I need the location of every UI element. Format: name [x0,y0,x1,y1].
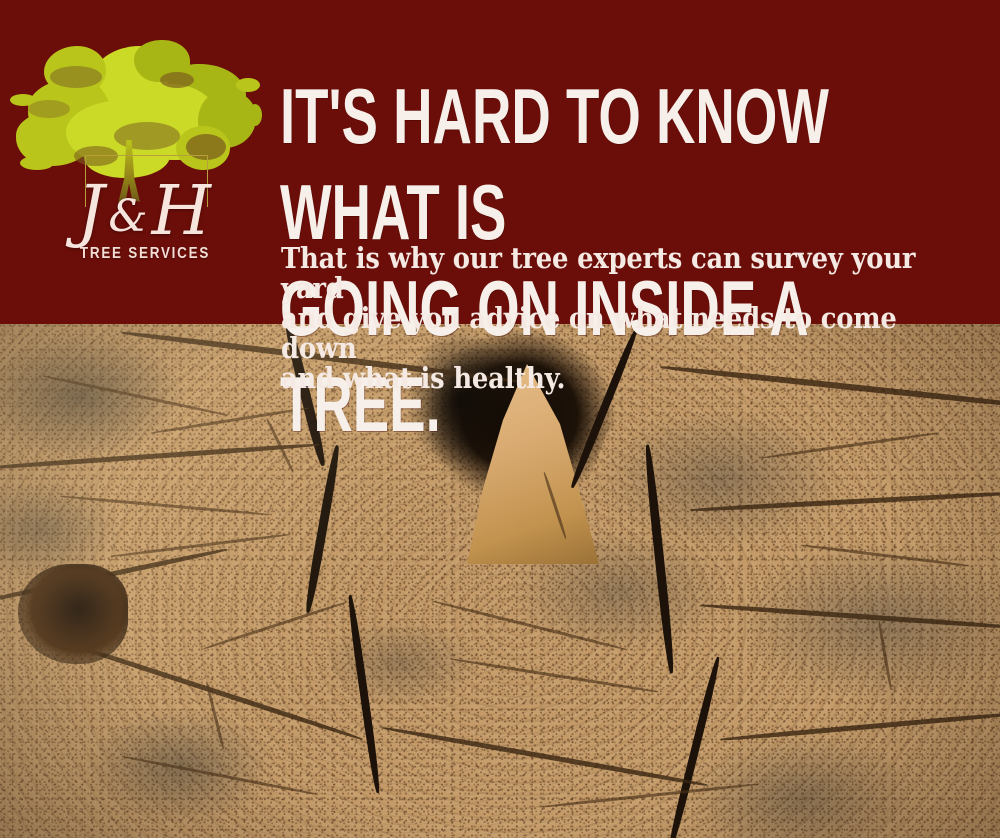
brand-logo[interactable]: J&H TREE SERVICES [0,0,272,324]
monogram-ampersand: & [106,191,151,242]
advertisement-poster: J&H TREE SERVICES IT'S HARD TO KNOW WHAT… [0,0,1000,838]
page-subheadline: That is why our tree experts can survey … [281,243,957,393]
monogram-j: J [77,172,106,251]
logo-tagline: TREE SERVICES [65,245,225,263]
logo-monogram: J&H [50,176,240,248]
headline-banner: J&H TREE SERVICES IT'S HARD TO KNOW WHAT… [0,0,1000,324]
monogram-h: H [152,172,213,251]
